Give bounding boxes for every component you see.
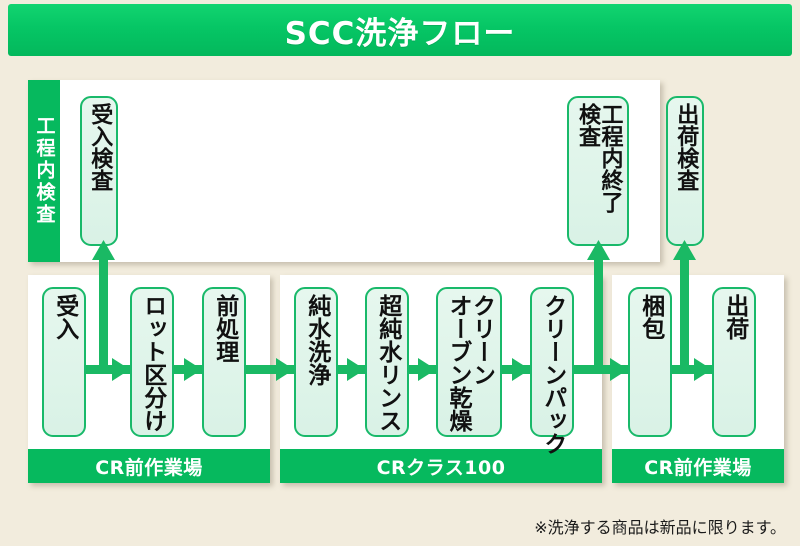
node-lot-sorting[interactable]: ロット区分け — [130, 287, 174, 437]
page-header: SCC洗浄フロー — [8, 4, 792, 56]
group-footer-pre-cr-workarea-2: CR前作業場 — [612, 449, 784, 483]
footnote: ※洗浄する商品は新品に限ります。 — [534, 514, 786, 538]
node-ultrapure-water-rinse-label-0: 超純水リンス — [375, 294, 398, 430]
inspection-panel-tab: 工程内検査 — [28, 80, 60, 262]
node-shipping-label-0: 出荷 — [722, 294, 745, 430]
node-process-completion-inspection[interactable]: 工程内終了 検査 — [567, 96, 629, 246]
node-shipping-inspection-label-0: 出荷検査 — [674, 103, 696, 239]
node-pre-treatment-label-0: 前処理 — [212, 294, 235, 430]
node-shipping-inspection[interactable]: 出荷検査 — [666, 96, 704, 246]
node-pure-water-wash[interactable]: 純水洗浄 — [294, 287, 338, 437]
inspection-panel: 工程内検査 — [28, 80, 660, 262]
node-clean-oven-dry[interactable]: クリーン オーブン乾燥 — [436, 287, 502, 437]
node-pure-water-wash-label-0: 純水洗浄 — [304, 294, 327, 430]
page-title: SCC洗浄フロー — [285, 8, 516, 53]
node-clean-oven-dry-label-0: クリーン — [469, 294, 492, 430]
node-clean-pack-label-0: クリーンパック — [540, 294, 563, 430]
flow-diagram: SCC洗浄フロー 工程内検査 受入検査 工程内終了 検査 出荷検査 CR前作業場… — [0, 0, 800, 546]
node-process-completion-inspection-label-0: 工程内終了 — [598, 103, 620, 239]
group-footer-label-2: CRクラス100 — [377, 453, 506, 480]
node-ultrapure-water-rinse[interactable]: 超純水リンス — [365, 287, 409, 437]
node-receiving[interactable]: 受入 — [42, 287, 86, 437]
group-footer-pre-cr-workarea-1: CR前作業場 — [28, 449, 270, 483]
node-lot-sorting-label-0: ロット区分け — [140, 294, 163, 430]
node-packing[interactable]: 梱包 — [628, 287, 672, 437]
inspection-panel-tab-label: 工程内検査 — [35, 116, 54, 226]
group-footer-label-1: CR前作業場 — [95, 453, 203, 480]
node-packing-label-0: 梱包 — [638, 294, 661, 430]
group-footer-label-3: CR前作業場 — [644, 453, 752, 480]
node-shipping[interactable]: 出荷 — [712, 287, 756, 437]
node-clean-pack[interactable]: クリーンパック — [530, 287, 574, 437]
node-receiving-inspection[interactable]: 受入検査 — [80, 96, 118, 246]
node-pre-treatment[interactable]: 前処理 — [202, 287, 246, 437]
node-receiving-inspection-label-0: 受入検査 — [88, 103, 110, 239]
node-receiving-label-0: 受入 — [52, 294, 75, 430]
node-process-completion-inspection-label-1: 検査 — [576, 103, 598, 239]
node-clean-oven-dry-label-1: オーブン乾燥 — [446, 294, 469, 430]
